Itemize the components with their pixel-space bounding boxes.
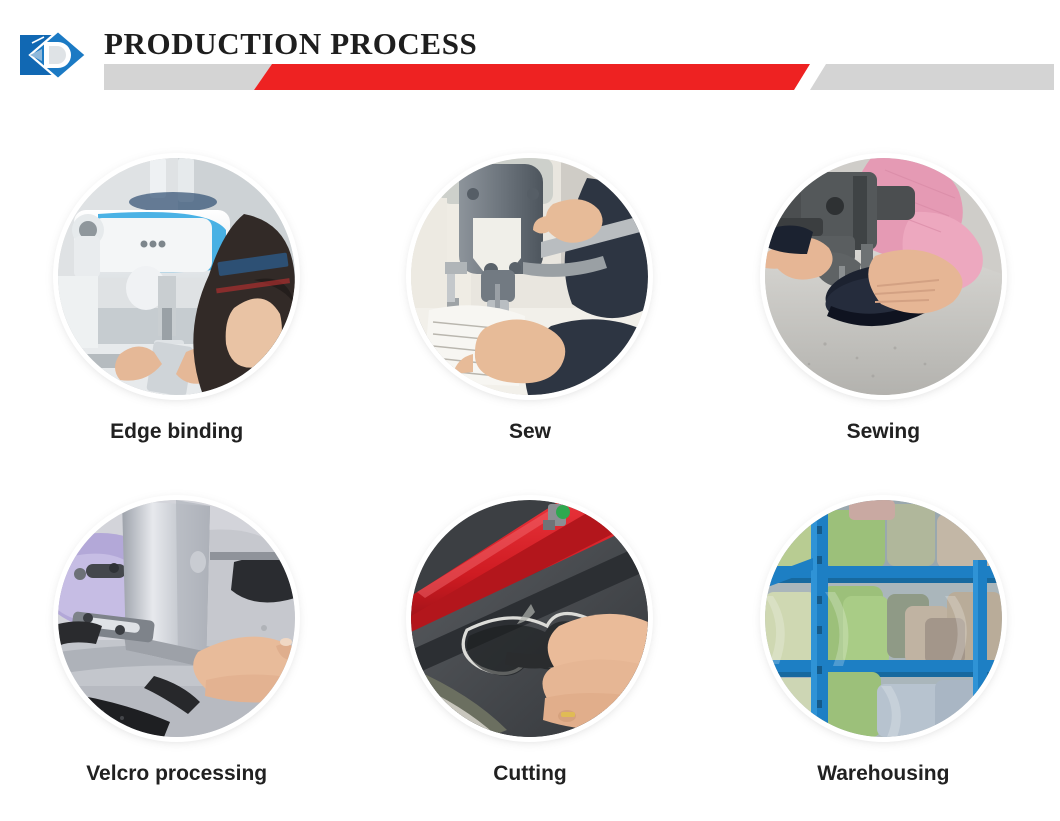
process-label: Warehousing [817, 761, 949, 787]
process-label: Velcro processing [86, 761, 267, 787]
process-label: Edge binding [110, 419, 243, 445]
page-header: PRODUCTION PROCESS [0, 0, 1060, 108]
photo-cutting [411, 500, 648, 737]
process-label: Sewing [847, 419, 921, 445]
photo-warehousing [765, 500, 1002, 737]
process-step-sew: Sew [353, 108, 706, 450]
photo-edge-binding [58, 158, 295, 395]
process-label: Sew [509, 419, 551, 445]
process-step-edge-binding: Edge binding [0, 108, 353, 450]
process-step-warehousing: Warehousing [707, 450, 1060, 792]
photo-velcro-processing [58, 500, 295, 737]
page-title: PRODUCTION PROCESS [104, 24, 477, 64]
company-diamond-d-logo [18, 27, 90, 83]
photo-sewing [765, 158, 1002, 395]
process-label: Cutting [493, 761, 566, 787]
photo-sew [411, 158, 648, 395]
process-step-sewing: Sewing [707, 108, 1060, 450]
process-step-cutting: Cutting [353, 450, 706, 792]
production-process-grid: Edge binding [0, 108, 1060, 792]
process-step-velcro-processing: Velcro processing [0, 450, 353, 792]
title-accent-bar [104, 64, 1054, 90]
